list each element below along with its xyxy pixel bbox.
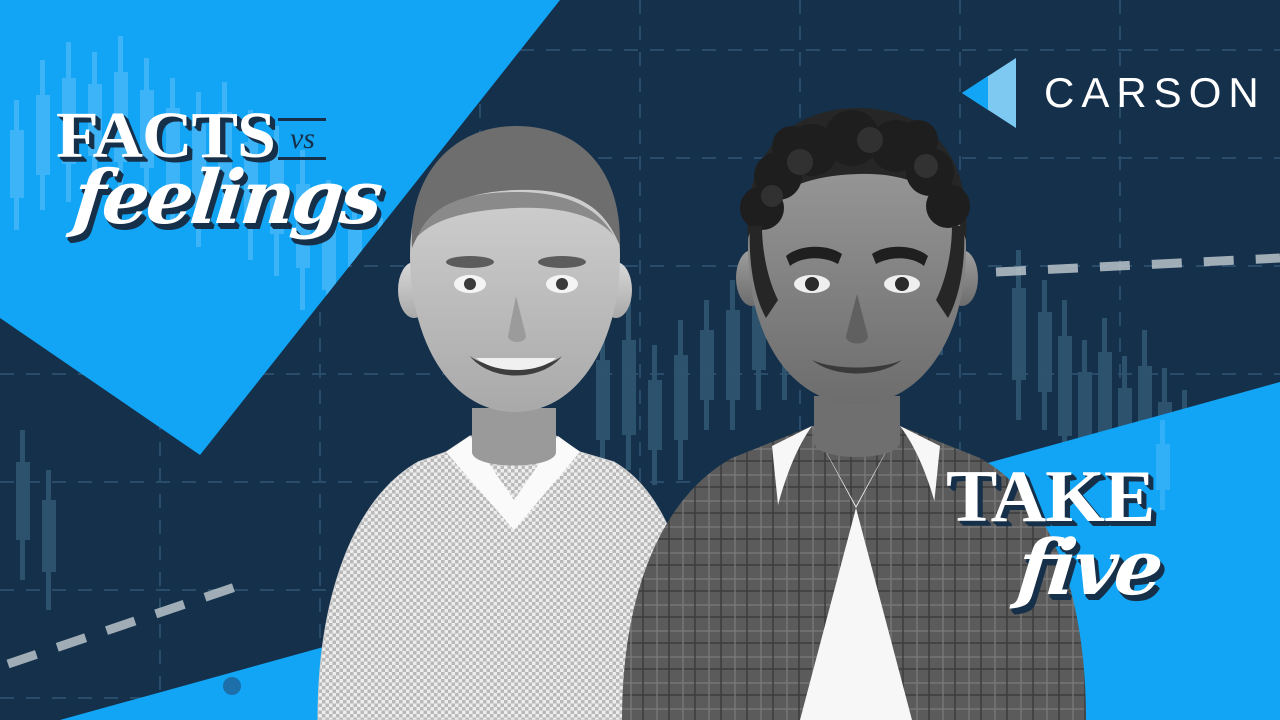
carson-wordmark: CARSON	[1044, 69, 1266, 117]
carson-logo[interactable]: CARSON	[958, 58, 1266, 128]
title-feelings: feelings	[70, 161, 424, 235]
title-vs-block: vs	[278, 118, 326, 160]
series-title-lockup: TAKE five	[946, 462, 1236, 632]
carson-chevron-icon	[958, 58, 1016, 128]
show-artwork-canvas: FACTS vs feelings CARSON TAKE five	[0, 0, 1280, 720]
title-vs: vs	[278, 121, 326, 157]
series-title-five: five	[1014, 530, 1244, 606]
show-title-lockup: FACTS vs feelings	[56, 106, 416, 286]
series-title-take: TAKE	[946, 462, 1248, 532]
